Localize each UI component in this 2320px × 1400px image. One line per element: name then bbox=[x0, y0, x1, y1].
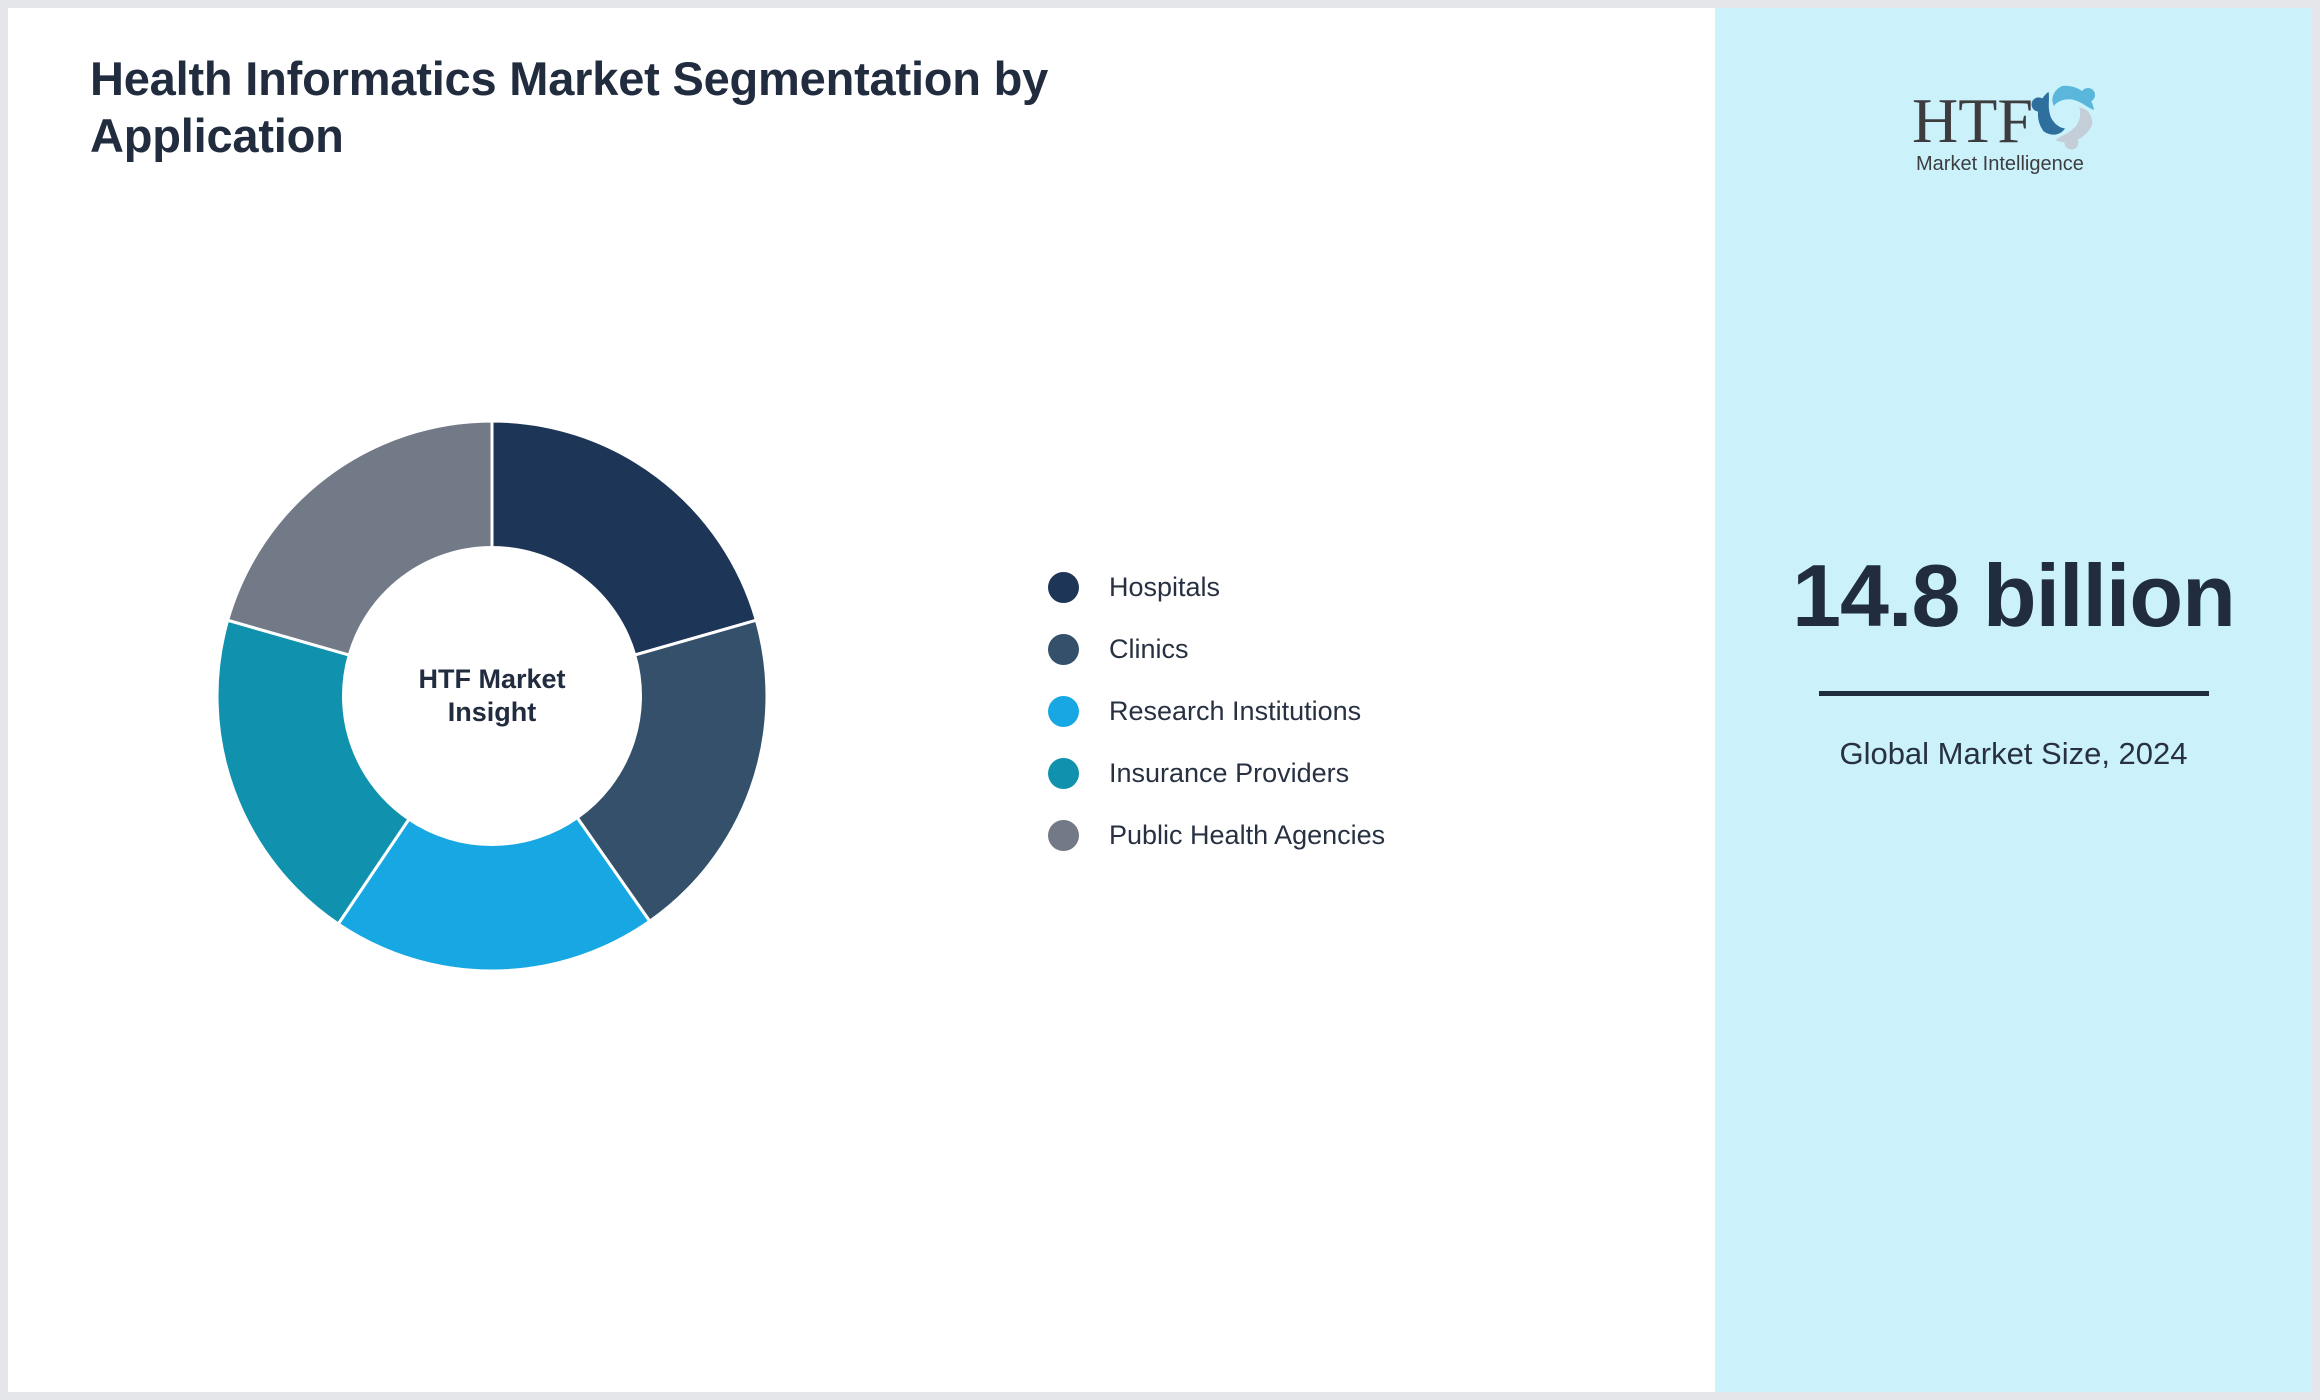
htf-triskelion-emblem bbox=[2027, 86, 2097, 153]
headline-stat-block: 14.8 billion Global Market Size, 2024 bbox=[1764, 548, 2264, 774]
infographic-card: Health Informatics Market Segmentation b… bbox=[8, 8, 2312, 1392]
legend-swatch-icon bbox=[1048, 634, 1079, 665]
legend-item-label: Research Institutions bbox=[1109, 696, 1361, 727]
donut-segment[interactable] bbox=[492, 421, 756, 655]
legend-item[interactable]: Public Health Agencies bbox=[1048, 804, 1385, 866]
legend-item[interactable]: Research Institutions bbox=[1048, 680, 1385, 742]
legend-item-label: Public Health Agencies bbox=[1109, 820, 1385, 851]
legend-item-label: Insurance Providers bbox=[1109, 758, 1349, 789]
legend-swatch-icon bbox=[1048, 820, 1079, 851]
legend-swatch-icon bbox=[1048, 572, 1079, 603]
legend-item[interactable]: Insurance Providers bbox=[1048, 742, 1385, 804]
legend-item[interactable]: Clinics bbox=[1048, 618, 1385, 680]
headline-stat-value: 14.8 billion bbox=[1764, 548, 2264, 643]
stat-divider-rule bbox=[1819, 691, 2209, 696]
legend-item-label: Clinics bbox=[1109, 634, 1189, 665]
legend-swatch-icon bbox=[1048, 696, 1079, 727]
donut-chart-svg bbox=[213, 417, 771, 975]
page-title: Health Informatics Market Segmentation b… bbox=[90, 50, 1190, 165]
donut-segment-group bbox=[217, 421, 767, 971]
chart-legend: HospitalsClinicsResearch InstitutionsIns… bbox=[1048, 556, 1385, 866]
main-content-area: Health Informatics Market Segmentation b… bbox=[8, 8, 1715, 1392]
htf-logo-svg: HTF Market I bbox=[1898, 70, 2130, 180]
htf-logo-tagline: Market Intelligence bbox=[1916, 153, 2084, 175]
htf-wordmark-text: HTF bbox=[1912, 85, 2033, 156]
headline-stat-caption: Global Market Size, 2024 bbox=[1764, 734, 2264, 774]
sidebar-panel: HTF Market I bbox=[1715, 8, 2312, 1392]
legend-item[interactable]: Hospitals bbox=[1048, 556, 1385, 618]
legend-swatch-icon bbox=[1048, 758, 1079, 789]
donut-segment[interactable] bbox=[228, 421, 492, 655]
htf-logo: HTF Market I bbox=[1898, 70, 2130, 180]
legend-item-label: Hospitals bbox=[1109, 572, 1220, 603]
donut-chart: HTF Market Insight bbox=[213, 417, 771, 975]
